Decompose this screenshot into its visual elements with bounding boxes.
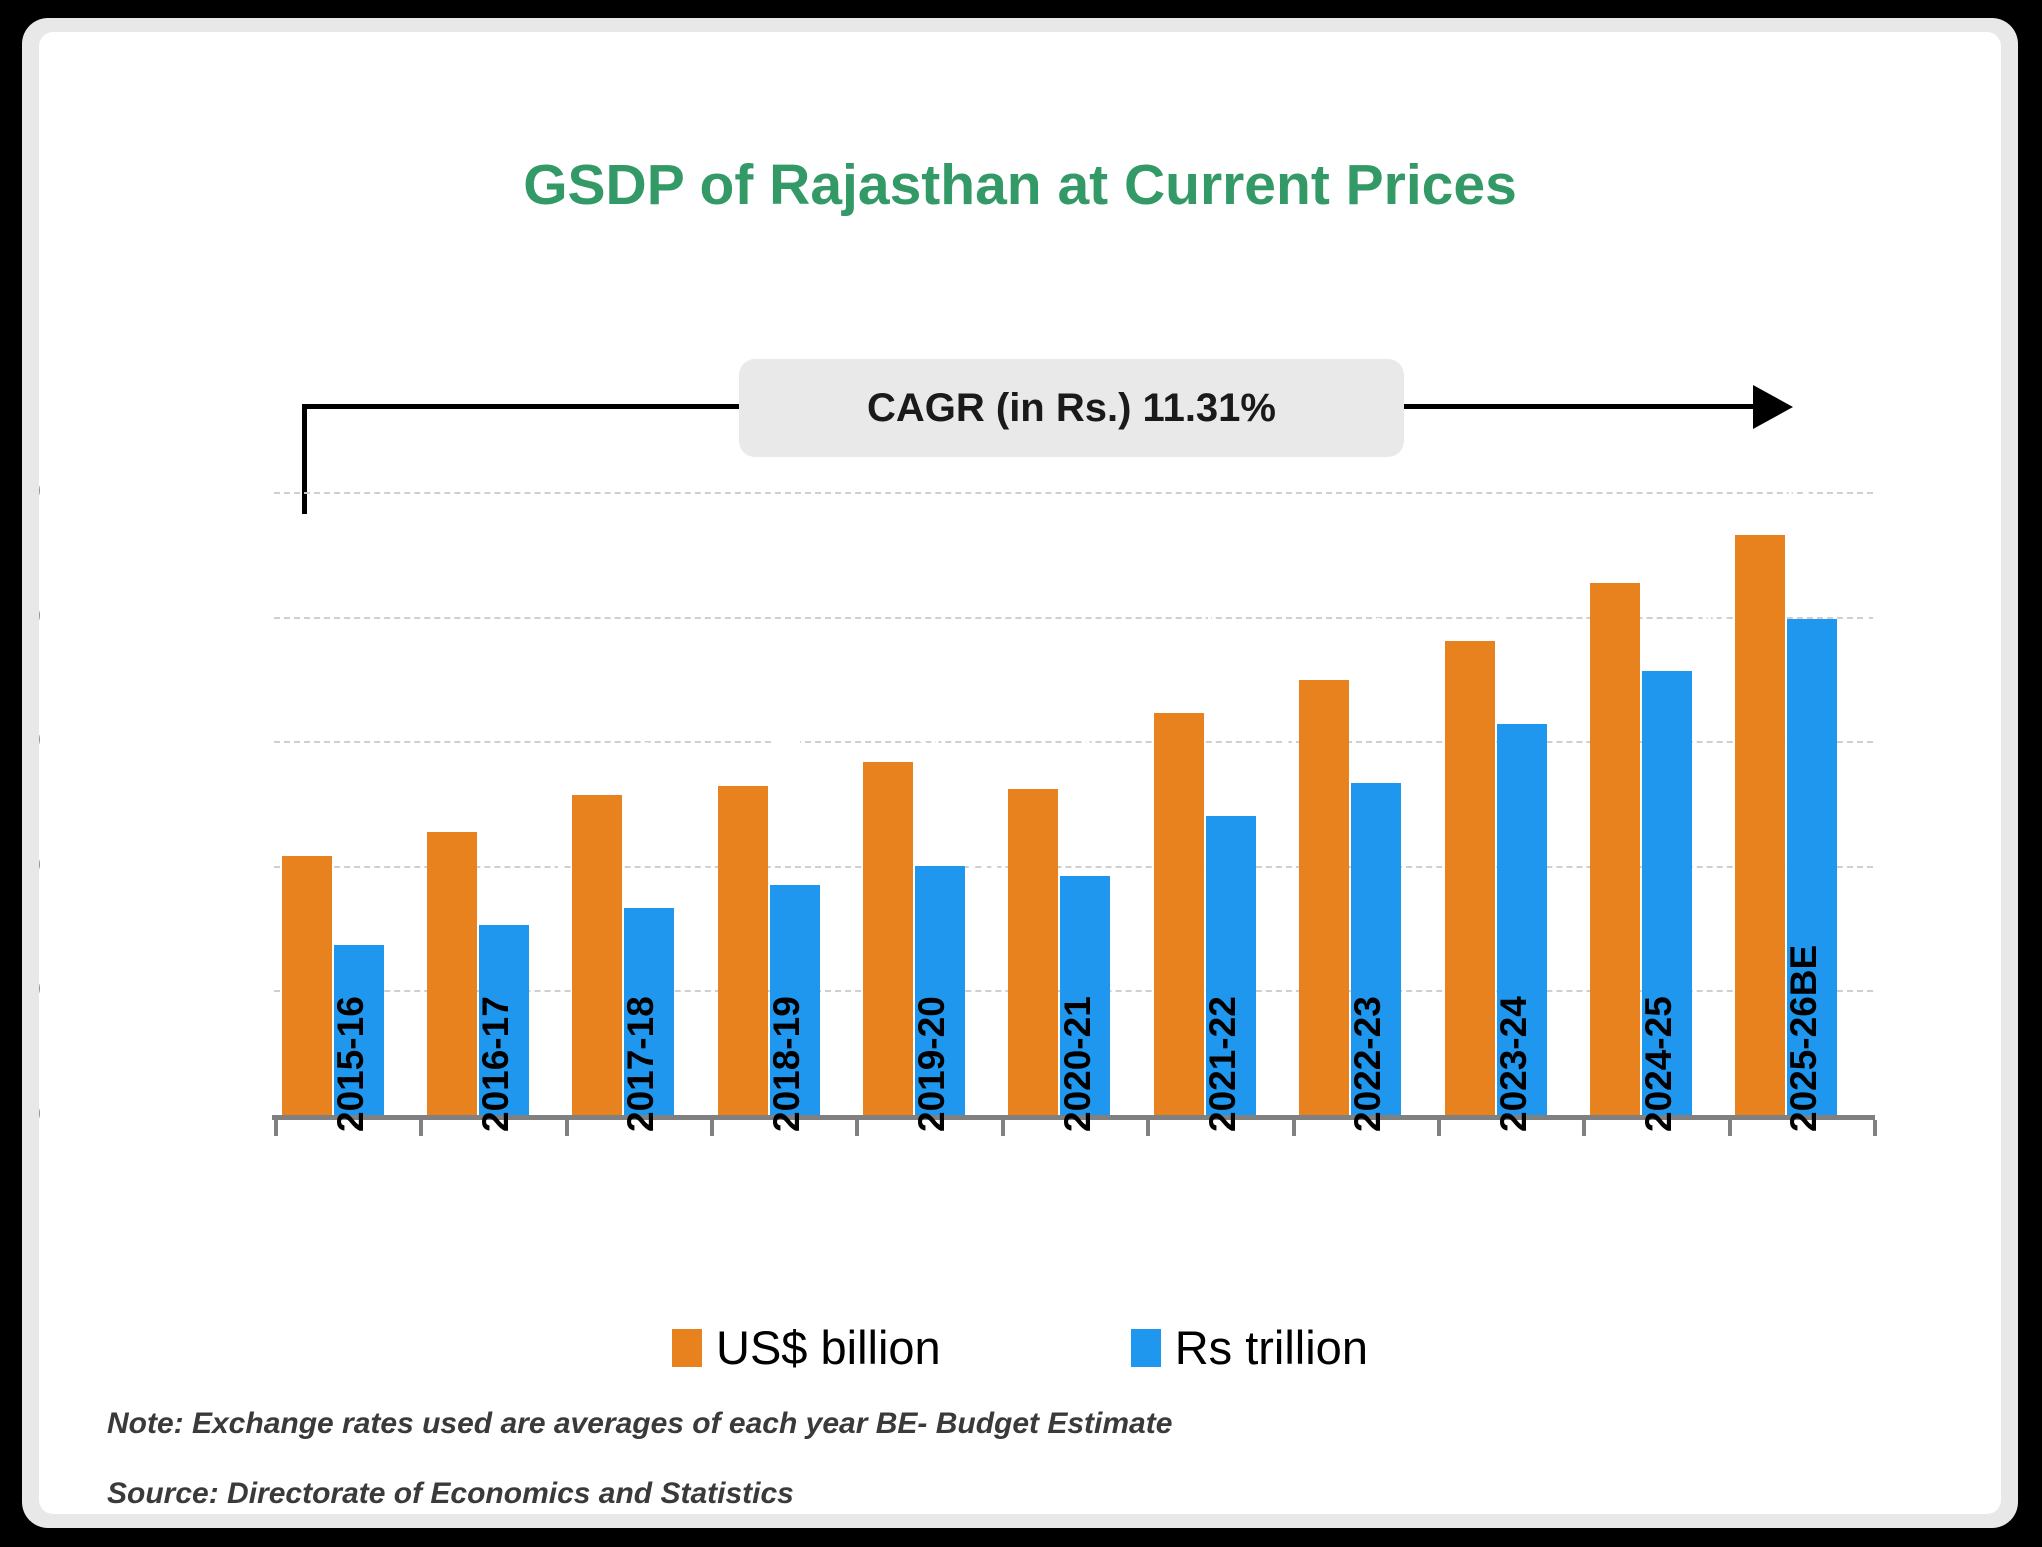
bar-value-label-usd: 113.37 <box>472 724 519 846</box>
x-axis-category-label: 2022-23 <box>1347 996 1389 1132</box>
cagr-arrow-head-icon <box>1753 385 1793 429</box>
bar-value-label-usd: 131.89 <box>763 675 810 800</box>
bar-value-label-usd: 213.51 <box>1635 472 1682 597</box>
bar-usd-billion[interactable]: 190.07 <box>1445 641 1495 1115</box>
chart-card: GSDP of Rajasthan at Current Prices CAGR… <box>39 32 2001 1514</box>
y-axis-left-tick-label: 50.0 <box>39 969 41 1012</box>
bar-usd-billion[interactable]: 141.72 <box>863 762 913 1115</box>
bar-value-label-rs: 19.89 <box>1832 531 1879 634</box>
x-axis-category-label: 2023-24 <box>1493 996 1535 1132</box>
bar-value-label-usd: 141.72 <box>908 650 955 775</box>
bar-value-label-usd: 128.57 <box>617 683 664 808</box>
legend-swatch-usd <box>672 1329 702 1367</box>
bar-value-label-usd: 190.07 <box>1490 530 1537 655</box>
cagr-callout: CAGR (in Rs.) 11.31% <box>739 359 1404 457</box>
x-axis-tick <box>710 1120 714 1136</box>
bar-usd-billion[interactable]: 130.86 <box>1008 789 1058 1115</box>
bar-usd-billion[interactable]: 161.37 <box>1154 713 1204 1115</box>
y-axis-left-tick-label: 100.0 <box>39 844 41 887</box>
bar-usd-billion[interactable]: 113.37 <box>427 832 477 1115</box>
x-axis-category-label: 2020-21 <box>1057 996 1099 1132</box>
bar-value-label-usd: 104.11 <box>327 747 374 869</box>
bar-usd-billion[interactable]: 131.89 <box>718 786 768 1115</box>
chart-legend: US$ billion Rs trillion <box>39 1320 2001 1375</box>
outer-frame: GSDP of Rajasthan at Current Prices CAGR… <box>22 18 2018 1528</box>
x-axis-tick <box>1437 1120 1441 1136</box>
x-axis-category-label: 2019-20 <box>911 996 953 1132</box>
plot-area: 250.025.0200.020.0150.015.0100.010.050.0… <box>274 492 1873 1115</box>
x-axis-tick <box>565 1120 569 1136</box>
x-axis-tick <box>1001 1120 1005 1136</box>
y-axis-left-tick-label: 150.0 <box>39 720 41 763</box>
x-axis-category-label: 2017-18 <box>620 996 662 1132</box>
legend-label-usd: US$ billion <box>716 1320 941 1375</box>
bar-value-label-usd: 130.86 <box>1053 678 1100 803</box>
x-axis-tick <box>274 1120 278 1136</box>
bar-usd-billion[interactable]: 232.88 <box>1735 535 1785 1115</box>
x-axis-tick <box>855 1120 859 1136</box>
x-axis-tick <box>1146 1120 1150 1136</box>
x-axis-category-label: 2021-22 <box>1202 996 1244 1132</box>
y-axis-left-tick-label: 0.0 <box>39 1094 41 1137</box>
y-axis-left-tick-label: 250.0 <box>39 471 41 514</box>
x-axis-tick <box>419 1120 423 1136</box>
bar-usd-billion[interactable]: 104.11 <box>282 856 332 1115</box>
bar-value-label-usd: 161.37 <box>1199 601 1246 726</box>
x-axis-category-label: 2025-26BE <box>1783 945 1825 1132</box>
bar-usd-billion[interactable]: 213.51 <box>1590 583 1640 1115</box>
legend-swatch-rs <box>1131 1329 1161 1367</box>
cagr-label: CAGR (in Rs.) 11.31% <box>867 386 1276 431</box>
x-axis-category-label: 2015-16 <box>330 996 372 1132</box>
x-axis-category-label: 2024-25 <box>1638 996 1680 1132</box>
bar-usd-billion[interactable]: 128.57 <box>572 795 622 1115</box>
legend-label-rs: Rs trillion <box>1175 1320 1368 1375</box>
bar-usd-billion[interactable]: 174.51 <box>1299 680 1349 1115</box>
note-exchange-rates: Note: Exchange rates used are averages o… <box>107 1407 1172 1441</box>
note-source: Source: Directorate of Economics and Sta… <box>107 1477 1172 1511</box>
legend-item-usd[interactable]: US$ billion <box>672 1320 941 1375</box>
page-title: GSDP of Rajasthan at Current Prices <box>39 152 2001 218</box>
x-axis-category-label: 2018-19 <box>766 996 808 1132</box>
x-axis-tick <box>1582 1120 1586 1136</box>
x-axis-tick <box>1292 1120 1296 1136</box>
bar-value-label-usd: 174.51 <box>1344 569 1391 694</box>
bar-value-label-usd: 232.88 <box>1780 423 1827 548</box>
x-axis-tick <box>1728 1120 1732 1136</box>
y-axis-left-tick-label: 200.0 <box>39 595 41 638</box>
legend-item-rs[interactable]: Rs trillion <box>1131 1320 1368 1375</box>
chart-notes: Note: Exchange rates used are averages o… <box>107 1407 1172 1514</box>
x-axis-tick <box>1873 1120 1877 1136</box>
x-axis-category-label: 2016-17 <box>475 996 517 1132</box>
